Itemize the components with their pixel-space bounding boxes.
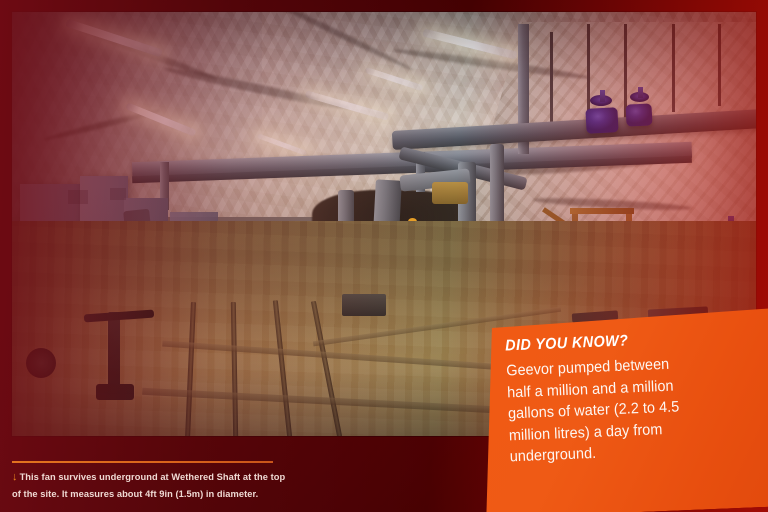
caption-line: ↓This fan survives underground at Wether… xyxy=(12,469,312,487)
caption-divider-rule xyxy=(12,461,273,463)
floor-equipment xyxy=(342,294,386,316)
cabinet-panel xyxy=(110,188,126,200)
down-arrow-icon: ↓ xyxy=(12,471,18,483)
caption-line-text: This fan survives underground at Wethere… xyxy=(20,472,286,482)
brass-fitting xyxy=(432,182,468,204)
blue-valve xyxy=(625,103,652,126)
timber-beam xyxy=(570,208,634,214)
did-you-know-callout: DID YOU KNOW? Geevor pumped between half… xyxy=(478,306,768,512)
caption-line: of the site. It measures about 4ft 9in (… xyxy=(12,487,312,502)
pipe-hanger-rod xyxy=(672,24,675,112)
callout-body: Geevor pumped between half a million and… xyxy=(506,352,712,468)
valve-stem xyxy=(600,90,605,102)
callout-heading: DID YOU KNOW? xyxy=(505,329,703,355)
pipe-hanger-rod xyxy=(550,32,553,128)
blue-valve xyxy=(585,107,618,134)
pipe-hanger-rod xyxy=(718,24,721,106)
lever-stand xyxy=(108,312,120,390)
callout-content: DID YOU KNOW? Geevor pumped between half… xyxy=(505,329,722,468)
wheel xyxy=(26,348,56,378)
photo-caption: ↓This fan survives underground at Wether… xyxy=(12,469,312,502)
valve-stem xyxy=(638,87,643,98)
cabinet-panel xyxy=(68,190,88,204)
lever-base xyxy=(96,384,134,400)
